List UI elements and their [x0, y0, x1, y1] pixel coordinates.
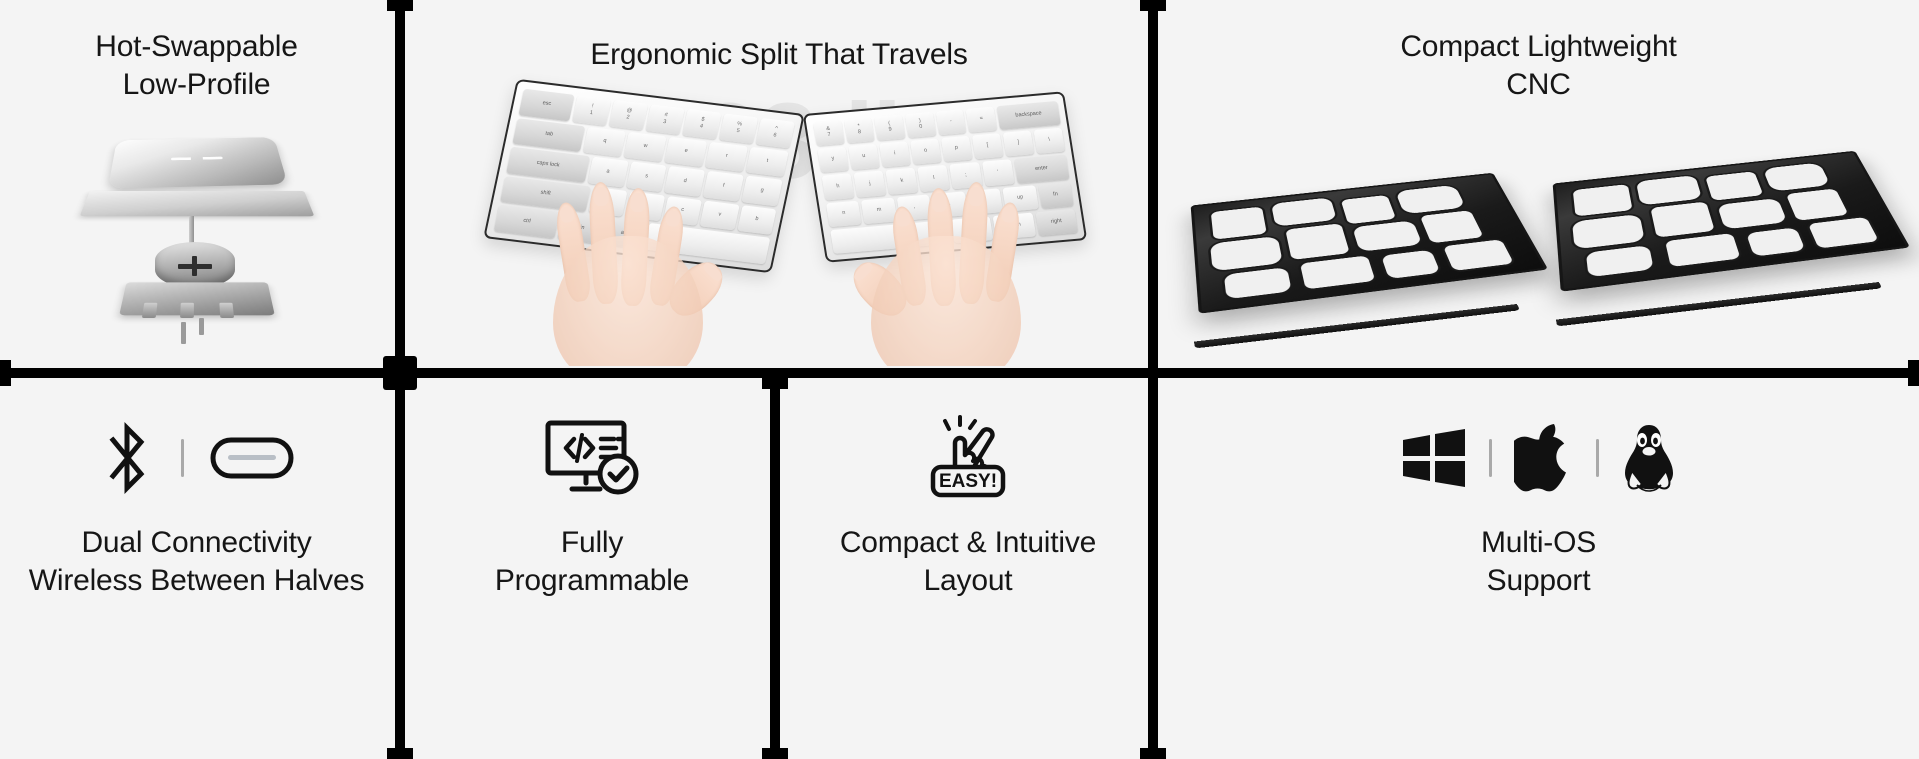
icon-separator: [1489, 439, 1492, 477]
feature-cell-fully-programmable: Fully Programmable: [409, 378, 775, 759]
multi-os-icon-row: [1158, 420, 1919, 496]
keycap-top: [107, 137, 287, 189]
key-t: t: [746, 146, 789, 177]
usb-c-port-icon: [210, 437, 294, 479]
divider-cap-bottom: [762, 378, 788, 389]
feature-grid: Hot-Swappable Low-Profile Ergonomic Spli…: [0, 0, 1919, 759]
intuitive-layout-icon-row: EASY!: [785, 414, 1151, 500]
feature-cell-intuitive-layout: EASY! Compact & Intuitive Layout: [785, 378, 1151, 759]
icon-separator: [1596, 439, 1599, 477]
key-4: $4: [682, 109, 721, 139]
switch-base: [119, 282, 275, 315]
feature-cell-compact-cnc: Compact Lightweight CNC: [1158, 0, 1919, 366]
linux-tux-icon: [1621, 423, 1677, 493]
cnc-plate-left: [1196, 150, 1526, 322]
key-7: &7: [813, 120, 844, 146]
cnc-plate-right: [1558, 128, 1888, 300]
vertical-divider-bottom-3: [395, 378, 405, 759]
keycap-plate: [79, 191, 314, 216]
exploded-low-profile-switch-art: [77, 118, 317, 348]
key-b: b: [737, 205, 777, 235]
feature-caption-multi-os: Multi-OS Support: [1158, 524, 1919, 601]
divider-cap-right: [1908, 360, 1919, 386]
divider-cap-bottom: [762, 748, 788, 759]
divider-cap-top: [1140, 0, 1166, 11]
icon-separator: [181, 439, 184, 477]
key-2: @2: [609, 100, 648, 130]
vertical-divider-top-2: [1148, 0, 1158, 368]
feature-title-hot-swappable: Hot-Swappable Low-Profile: [0, 28, 393, 105]
horizontal-divider: [0, 368, 1919, 378]
key-5: %5: [719, 113, 758, 143]
left-hand-overlay: [527, 150, 737, 366]
divider-junction: [383, 356, 417, 390]
switch-cylinder: [155, 242, 235, 288]
feature-title-ergonomic-split: Ergonomic Split That Travels: [409, 36, 1149, 74]
feature-cell-dual-connectivity: Dual Connectivity Wireless Between Halve…: [0, 378, 393, 759]
feature-title-compact-cnc: Compact Lightweight CNC: [1158, 28, 1919, 105]
feature-caption-fully-programmable: Fully Programmable: [409, 524, 775, 601]
switch-pin: [181, 322, 186, 344]
switch-pin: [199, 318, 204, 335]
windows-logo-icon: [1401, 428, 1467, 488]
key-8: *8: [844, 117, 875, 143]
feature-caption-intuitive-layout: Compact & Intuitive Layout: [785, 524, 1151, 601]
easy-icon-label: EASY!: [939, 471, 997, 492]
monitor-code-check-icon: [544, 419, 640, 497]
fully-programmable-icon-row: [409, 418, 775, 498]
easy-hand-icon: EASY!: [925, 415, 1011, 499]
divider-cap-top: [387, 0, 413, 11]
divider-cap-bottom: [1140, 748, 1166, 759]
key-backspace: backspace: [997, 101, 1061, 130]
key-1: !1: [572, 95, 611, 125]
vertical-divider-bottom-2: [1148, 378, 1158, 759]
vertical-divider-top-1: [395, 0, 405, 368]
key-esc: esc: [518, 89, 574, 121]
apple-logo-icon: [1514, 422, 1574, 494]
feature-cell-hot-swappable: Hot-Swappable Low-Profile: [0, 0, 393, 366]
key-equal: =: [966, 107, 997, 133]
key-minus: -: [935, 109, 966, 135]
key-6: ^6: [756, 118, 795, 148]
feature-cell-multi-os: Multi-OS Support: [1158, 378, 1919, 759]
feature-cell-ergonomic-split: Ergonomic Split That Travels 0.93 lbs es…: [409, 0, 1149, 366]
bluetooth-icon: [99, 420, 155, 496]
divider-cap-bottom: [387, 748, 413, 759]
divider-cap-left: [0, 360, 11, 386]
vertical-divider-bottom-1: [770, 378, 780, 759]
feature-caption-dual-connectivity: Dual Connectivity Wireless Between Halve…: [0, 524, 393, 601]
dual-connectivity-icon-row: [0, 418, 393, 498]
key-0: )0: [905, 112, 936, 138]
key-tab: tab: [512, 118, 585, 152]
right-hand-overlay: [841, 150, 1051, 366]
switch-cross-stem: [178, 256, 212, 276]
key-3: #3: [646, 104, 685, 134]
key-g: g: [742, 176, 783, 206]
key-9: (9: [874, 115, 905, 141]
